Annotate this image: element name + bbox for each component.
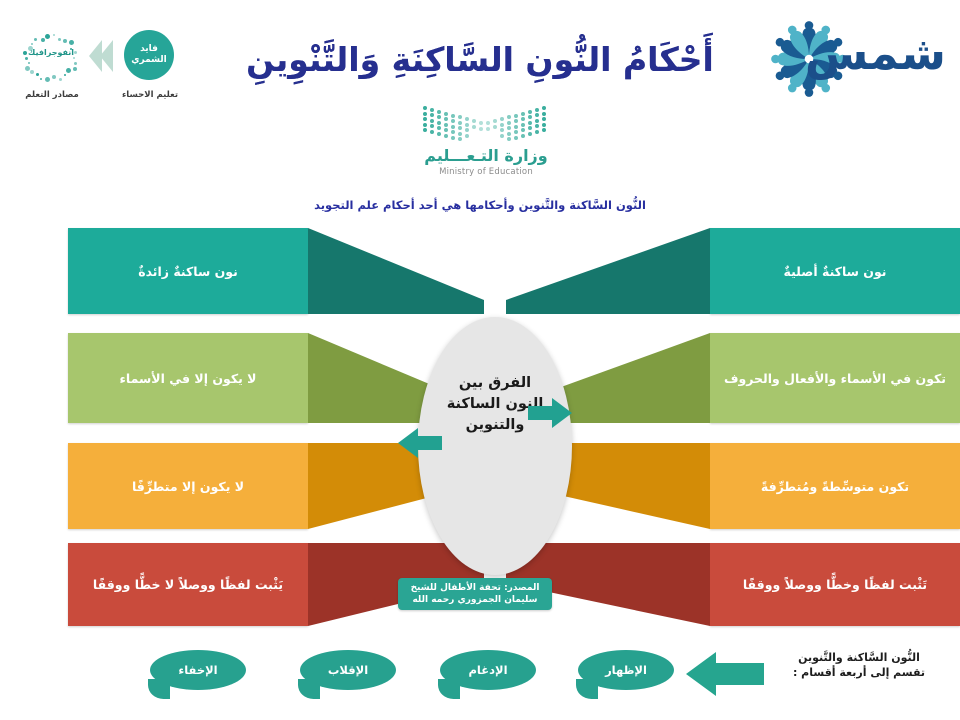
author-name-line1: فايد	[140, 44, 158, 55]
category-bubble-2[interactable]: الإدغام	[440, 650, 536, 690]
left-band-label: لا يكون إلا في الأسماء	[110, 371, 267, 386]
category-bubble-4[interactable]: الإخفاء	[150, 650, 246, 690]
dotted-circle-icon	[20, 30, 82, 86]
partner-logo-caption-left: مصادر التعلم	[16, 90, 88, 100]
left-band-4: يَثْبت لفظًا ووصلاً لا خطًّا ووقفًا	[68, 543, 308, 626]
right-band-2: تكون في الأسماء والأفعال والحروف	[710, 333, 960, 423]
partner-logo-dotted-word: انفوجرافيك	[20, 48, 82, 57]
right-band-4: تَثْبت لفظًا وخطًّا ووصلاً ووقفًا	[710, 543, 960, 626]
ministry-of-education-logo: وزارة التـعـــليم Ministry of Education	[396, 104, 576, 188]
right-band-3: تكون متوسِّطةً ومُتطرِّفةً	[710, 443, 960, 529]
moe-arabic-text: وزارة التـعـــليم	[396, 146, 576, 165]
category-bubble-label: الإقلاب	[328, 663, 368, 677]
arrow-left-icon-bottom	[686, 652, 764, 696]
moe-english-text: Ministry of Education	[396, 167, 576, 177]
bottom-note-line-2: تقسم إلى أربعة أقسام :	[774, 665, 944, 680]
left-band-3: لا يكون إلا متطرِّفًا	[68, 443, 308, 529]
vision-dots-icon	[421, 104, 551, 140]
category-bubble-label: الإخفاء	[178, 663, 217, 677]
chevron-right-icon-2	[89, 40, 102, 72]
partner-logo: انفوجرافيك فايد الشمري تعليم الاحساء مصا…	[14, 28, 186, 106]
left-taper-1	[308, 228, 484, 318]
category-bubble-3[interactable]: الإقلاب	[300, 650, 396, 690]
left-band-label: نون ساكنةٌ زائدةٌ	[128, 264, 248, 279]
arrow-right-icon	[528, 398, 572, 428]
left-band-label: لا يكون إلا متطرِّفًا	[122, 479, 254, 494]
arrow-left-icon	[398, 428, 442, 458]
infographic-canvas: انفوجرافيك فايد الشمري تعليم الاحساء مصا…	[0, 0, 960, 720]
category-bubble-1[interactable]: الإظهار	[578, 650, 674, 690]
right-taper-1	[506, 228, 710, 318]
source-line-1: المصدر: تحفة الأطفال للشيخ	[404, 582, 546, 594]
source-citation: المصدر: تحفة الأطفال للشيخ سليمان الجمزو…	[398, 578, 552, 610]
shams-logo: شمس	[758, 14, 948, 104]
page-title: أَحْكَامُ النُّونِ السَّاكِنَةِ وَالتَّن…	[170, 40, 790, 80]
right-band-label: تكون في الأسماء والأفعال والحروف	[714, 371, 956, 386]
left-band-2: لا يكون إلا في الأسماء	[68, 333, 308, 423]
right-band-label: تَثْبت لفظًا وخطًّا ووصلاً ووقفًا	[733, 577, 937, 592]
right-band-label: نون ساكنةٌ أصليةٌ	[774, 264, 897, 279]
right-band-label: تكون متوسِّطةً ومُتطرِّفةً	[751, 479, 919, 494]
source-line-2: سليمان الجمزوري رحمه الله	[404, 594, 546, 606]
left-band-label: يَثْبت لفظًا ووصلاً لا خطًّا ووقفًا	[83, 577, 293, 592]
category-bubble-label: الإظهار	[605, 663, 647, 677]
shams-logo-word: شمس	[805, 30, 946, 76]
right-band-1: نون ساكنةٌ أصليةٌ	[710, 228, 960, 314]
bottom-note: النُّون السَّاكنة والتَّنوين تقسم إلى أر…	[774, 650, 944, 680]
left-band-1: نون ساكنةٌ زائدةٌ	[68, 228, 308, 314]
center-line-1: الفرق بين	[418, 373, 572, 394]
bottom-note-line-1: النُّون السَّاكنة والتَّنوين	[774, 650, 944, 665]
page-subtitle: النُّون السَّاكنة والتَّنوين وأحكامها هي…	[230, 198, 730, 212]
partner-logo-caption-right: تعليم الاحساء	[114, 90, 186, 100]
author-badge: فايد الشمري	[124, 30, 174, 80]
category-bubble-label: الإدغام	[469, 663, 508, 677]
author-name-line2: الشمري	[131, 55, 167, 66]
